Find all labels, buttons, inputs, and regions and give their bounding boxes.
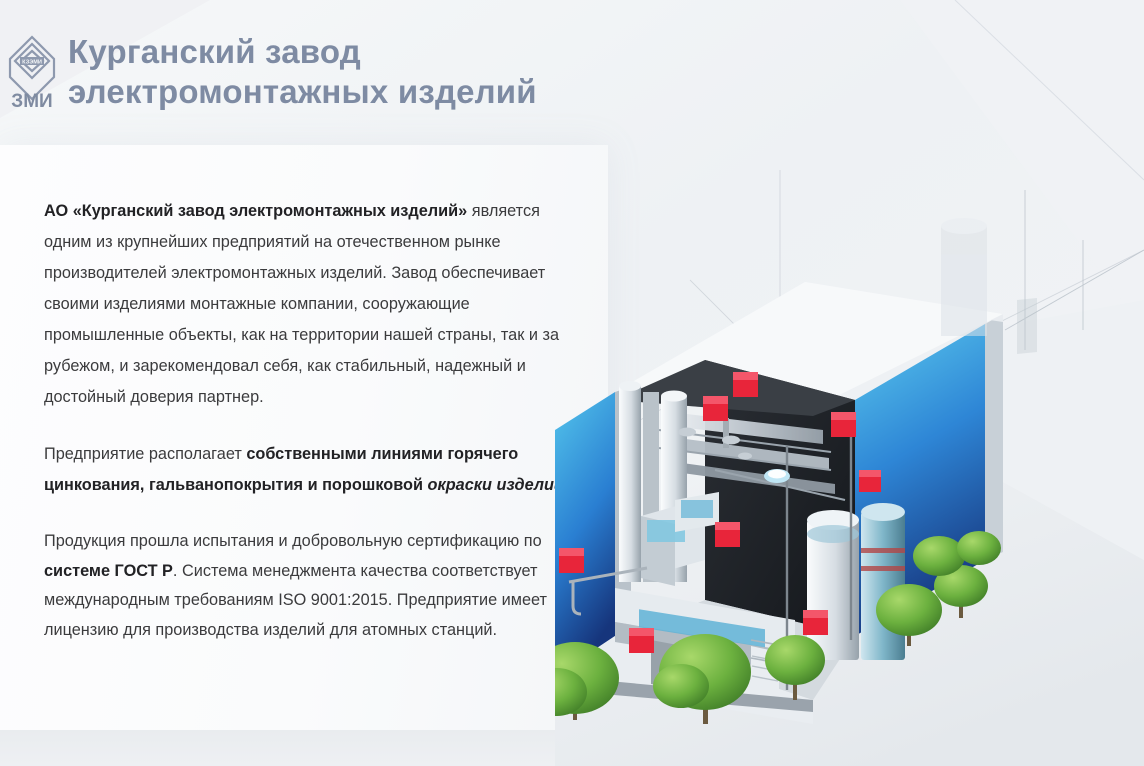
paragraph-1-lead: АО «Курганский завод электромонтажных из… <box>44 202 467 220</box>
paragraph-2-plain-start: Предприятие располагает <box>44 445 246 463</box>
tree <box>913 536 965 576</box>
paragraph-3-plain-start: Продукция прошла испытания и добровольну… <box>44 532 542 550</box>
storage-tanks <box>807 503 905 660</box>
red-marker <box>803 610 828 635</box>
red-marker <box>559 548 584 573</box>
page-title-line-1: Курганский завод <box>68 33 361 70</box>
wall-left-blue <box>555 392 615 676</box>
tree <box>957 531 1001 565</box>
logo-mark-text: КЗЭМИ <box>22 60 42 66</box>
factory-illustration <box>555 0 1144 766</box>
wall-right-frame <box>985 314 1003 560</box>
red-marker <box>733 372 758 397</box>
background-silo <box>941 218 987 336</box>
kzemi-diamond-logo: КЗЭМИ ЗМИ <box>6 33 58 109</box>
red-marker <box>703 396 728 421</box>
red-marker <box>715 522 740 547</box>
red-marker <box>629 628 654 653</box>
paragraph-2: Предприятие располагает собственными лин… <box>44 439 574 501</box>
content-text-column: АО «Курганский завод электромонтажных из… <box>44 196 574 645</box>
ceiling-lamp <box>764 469 790 483</box>
slide-root: КЗЭМИ ЗМИ Курганский завод электромонтаж… <box>0 0 1144 766</box>
paragraph-1: АО «Курганский завод электромонтажных из… <box>44 196 574 413</box>
red-marker <box>859 470 881 492</box>
logo-bottom-text: ЗМИ <box>11 91 52 109</box>
paragraph-1-body: является одним из крупнейших предприятий… <box>44 202 559 406</box>
paragraph-3-bold: системе ГОСТ Р <box>44 562 173 580</box>
paragraph-3: Продукция прошла испытания и добровольну… <box>44 527 574 645</box>
isometric-factory-cutaway-svg <box>555 0 1144 766</box>
paragraph-2-bold-italic: окраски изделий. <box>428 476 569 494</box>
red-marker <box>831 412 856 437</box>
background-stack <box>1017 298 1037 354</box>
